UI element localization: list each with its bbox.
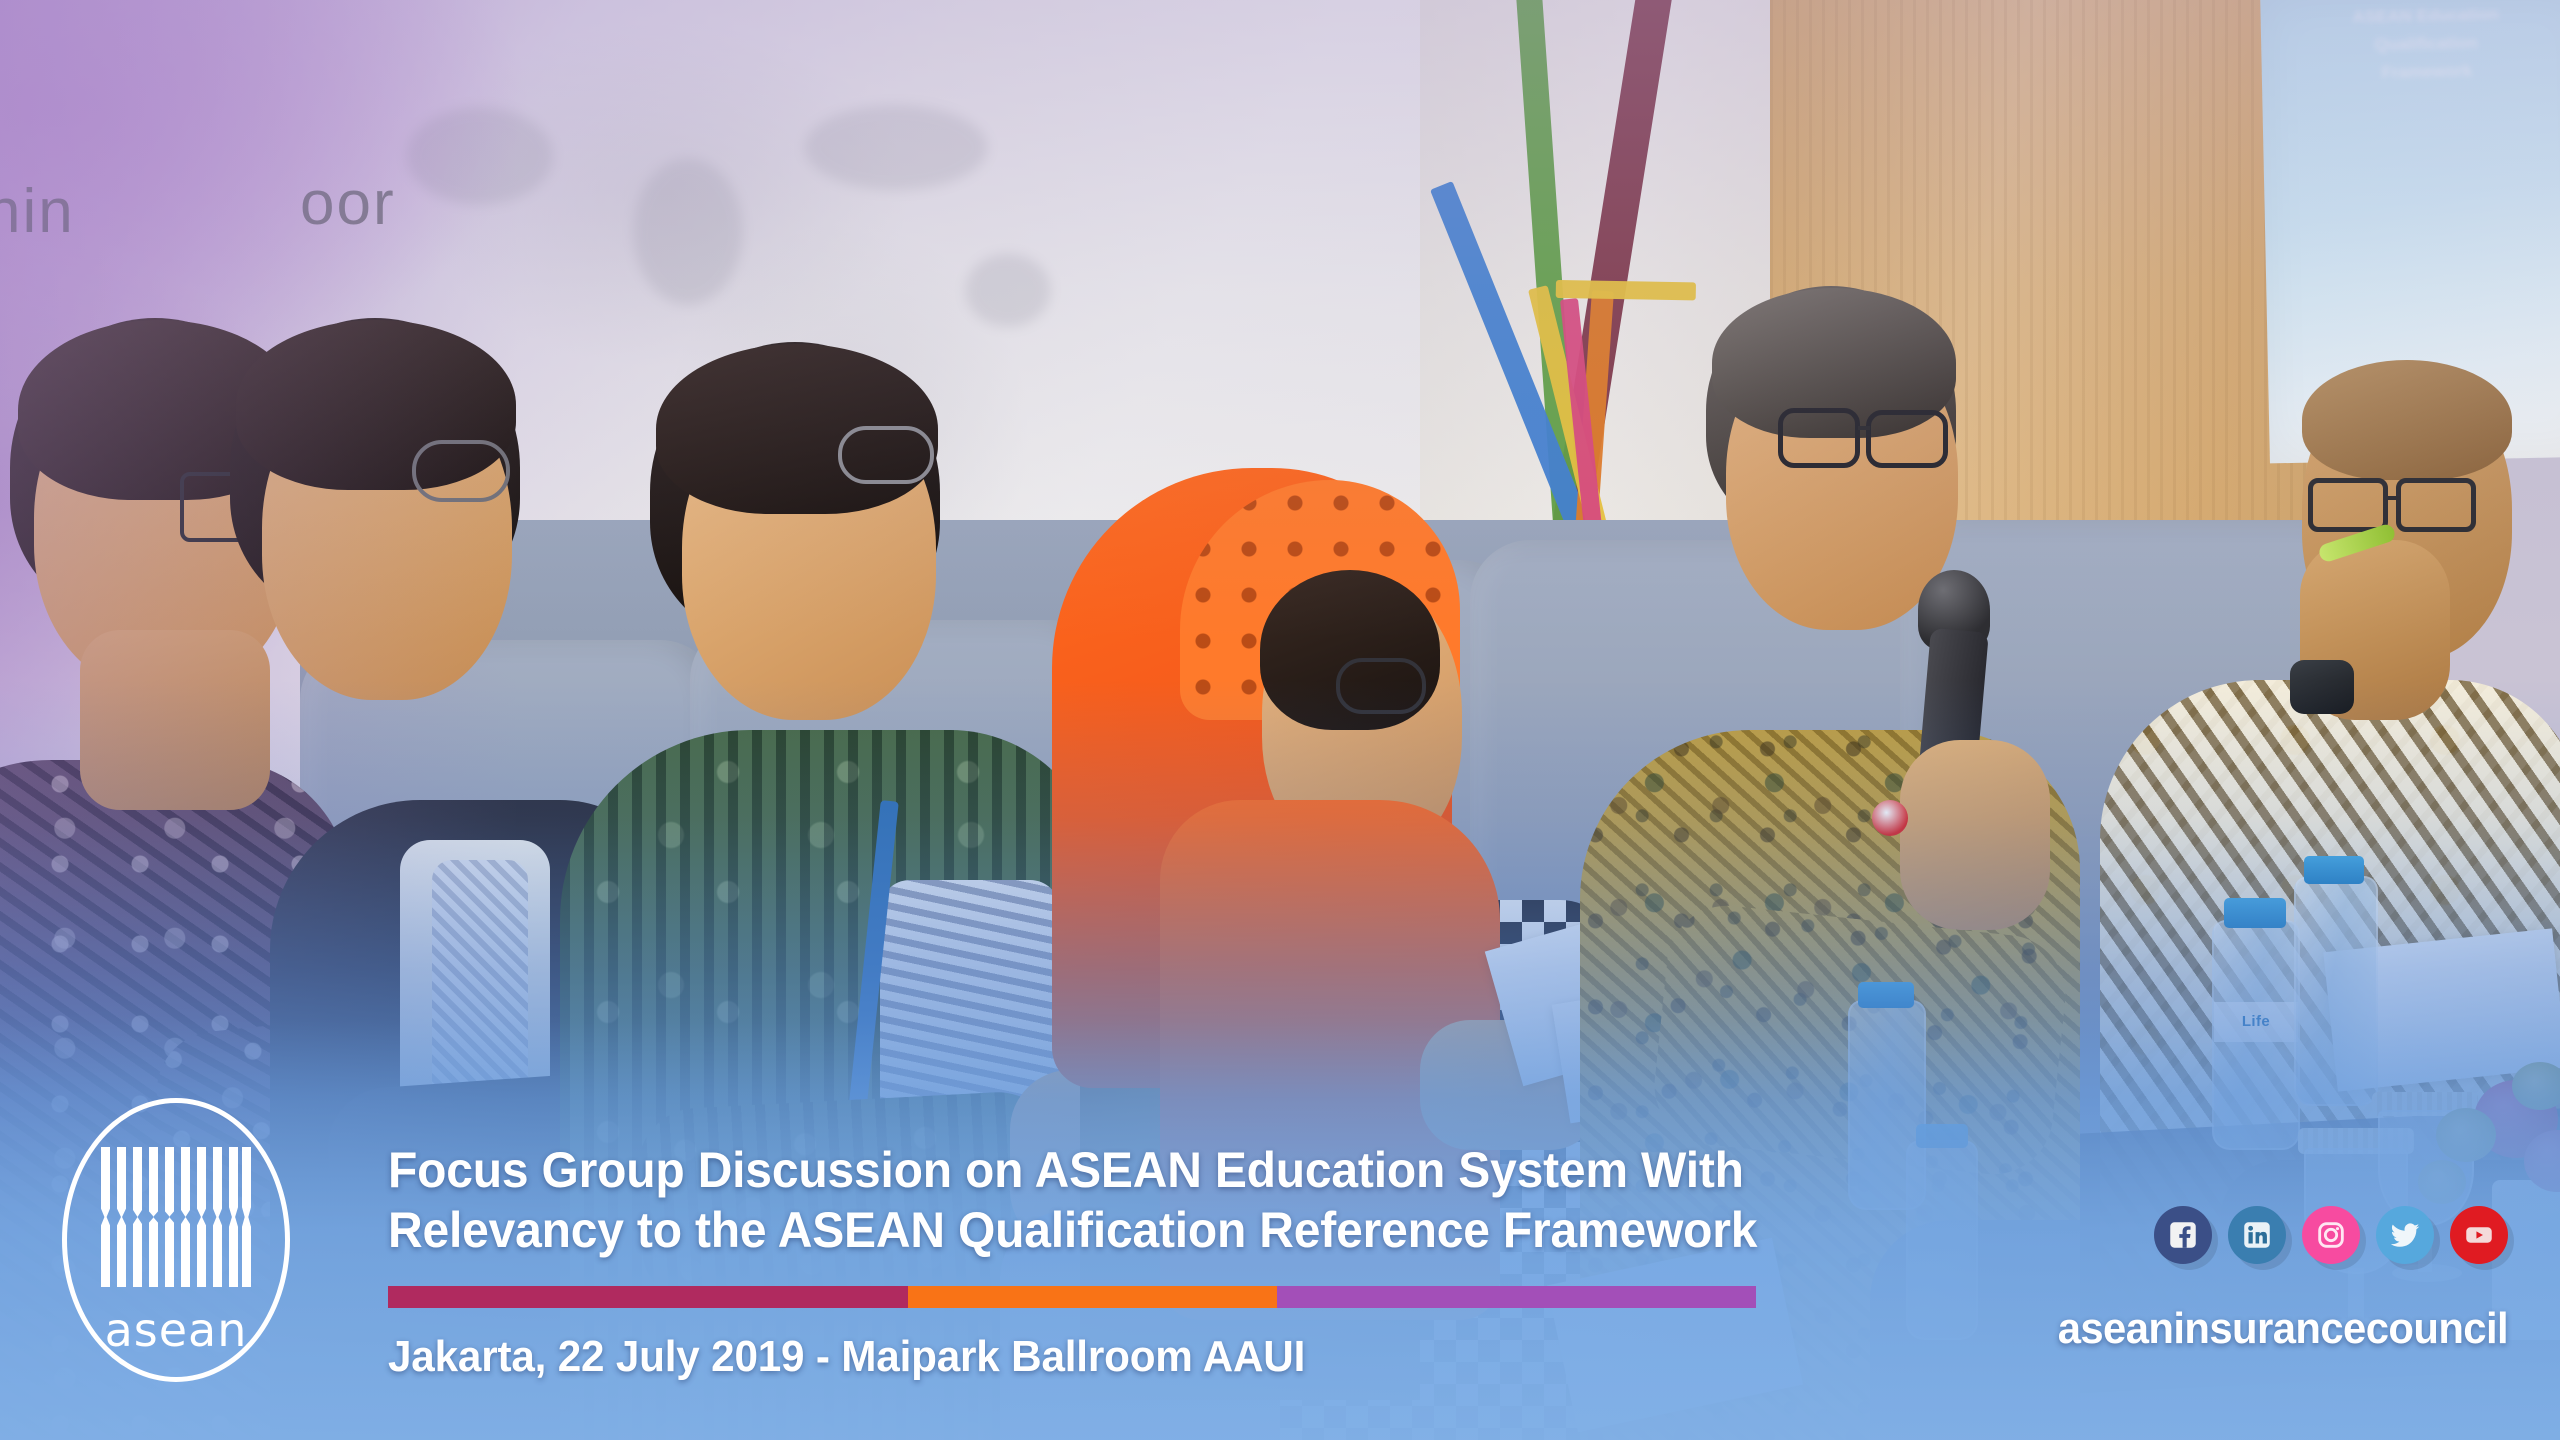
foliage-2 — [2512, 1062, 2560, 1110]
bottle-cap-1 — [2224, 898, 2286, 928]
bottle-cap-4 — [1916, 1124, 1968, 1148]
panelist-6-watch — [2290, 660, 2354, 714]
slide-line-3: Framework — [2381, 61, 2472, 83]
panelist-2-glasses-lens — [412, 440, 510, 502]
panelist-5-glasses-lens-right — [1866, 410, 1948, 468]
panelist-6-glasses-bridge — [2388, 496, 2400, 500]
goblet-foot-2 — [2392, 1264, 2462, 1282]
panelist-5-hand-on-mic — [1900, 740, 2050, 930]
foliage-3 — [2418, 1160, 2466, 1204]
backdrop-text-left: hin — [0, 176, 75, 247]
panelist-6-hair — [2302, 360, 2512, 480]
flower-vase — [2492, 1180, 2560, 1340]
conference-photograph: hin oor ASEAN Education Qualification Fr… — [0, 0, 2560, 1440]
goblet-foot-1 — [2318, 1318, 2396, 1338]
slide-line-2: Qualification — [2375, 33, 2478, 55]
panelist-5-glasses-lens-left — [1778, 408, 1860, 468]
backdrop-text-right: oor — [300, 168, 396, 239]
foliage-1 — [2436, 1108, 2496, 1162]
bottle-cap-3 — [1858, 982, 1914, 1008]
panelist-6-glasses-lens-left — [2308, 478, 2388, 532]
water-bottle-4 — [1906, 1140, 1978, 1340]
panelist-4-glasses-lens — [1336, 658, 1426, 714]
panelist-5-glasses-bridge — [1858, 426, 1870, 430]
water-bottle-2 — [2294, 876, 2378, 1106]
ribbon-yellow-2 — [1556, 280, 1696, 300]
panelist-1-neck — [80, 630, 270, 810]
panelist-5-badge — [1872, 800, 1908, 836]
bottle-cap-2 — [2304, 856, 2364, 884]
slide-line-1: ASEAN Education — [2352, 5, 2499, 28]
bottle-label-1: Life — [2214, 1002, 2298, 1042]
panelist-6-glasses-lens-right — [2396, 478, 2476, 532]
water-bottle-1: Life — [2212, 920, 2300, 1150]
event-photo-banner: hin oor ASEAN Education Qualification Fr… — [0, 0, 2560, 1440]
panelist-3-glasses-lens — [838, 426, 934, 484]
